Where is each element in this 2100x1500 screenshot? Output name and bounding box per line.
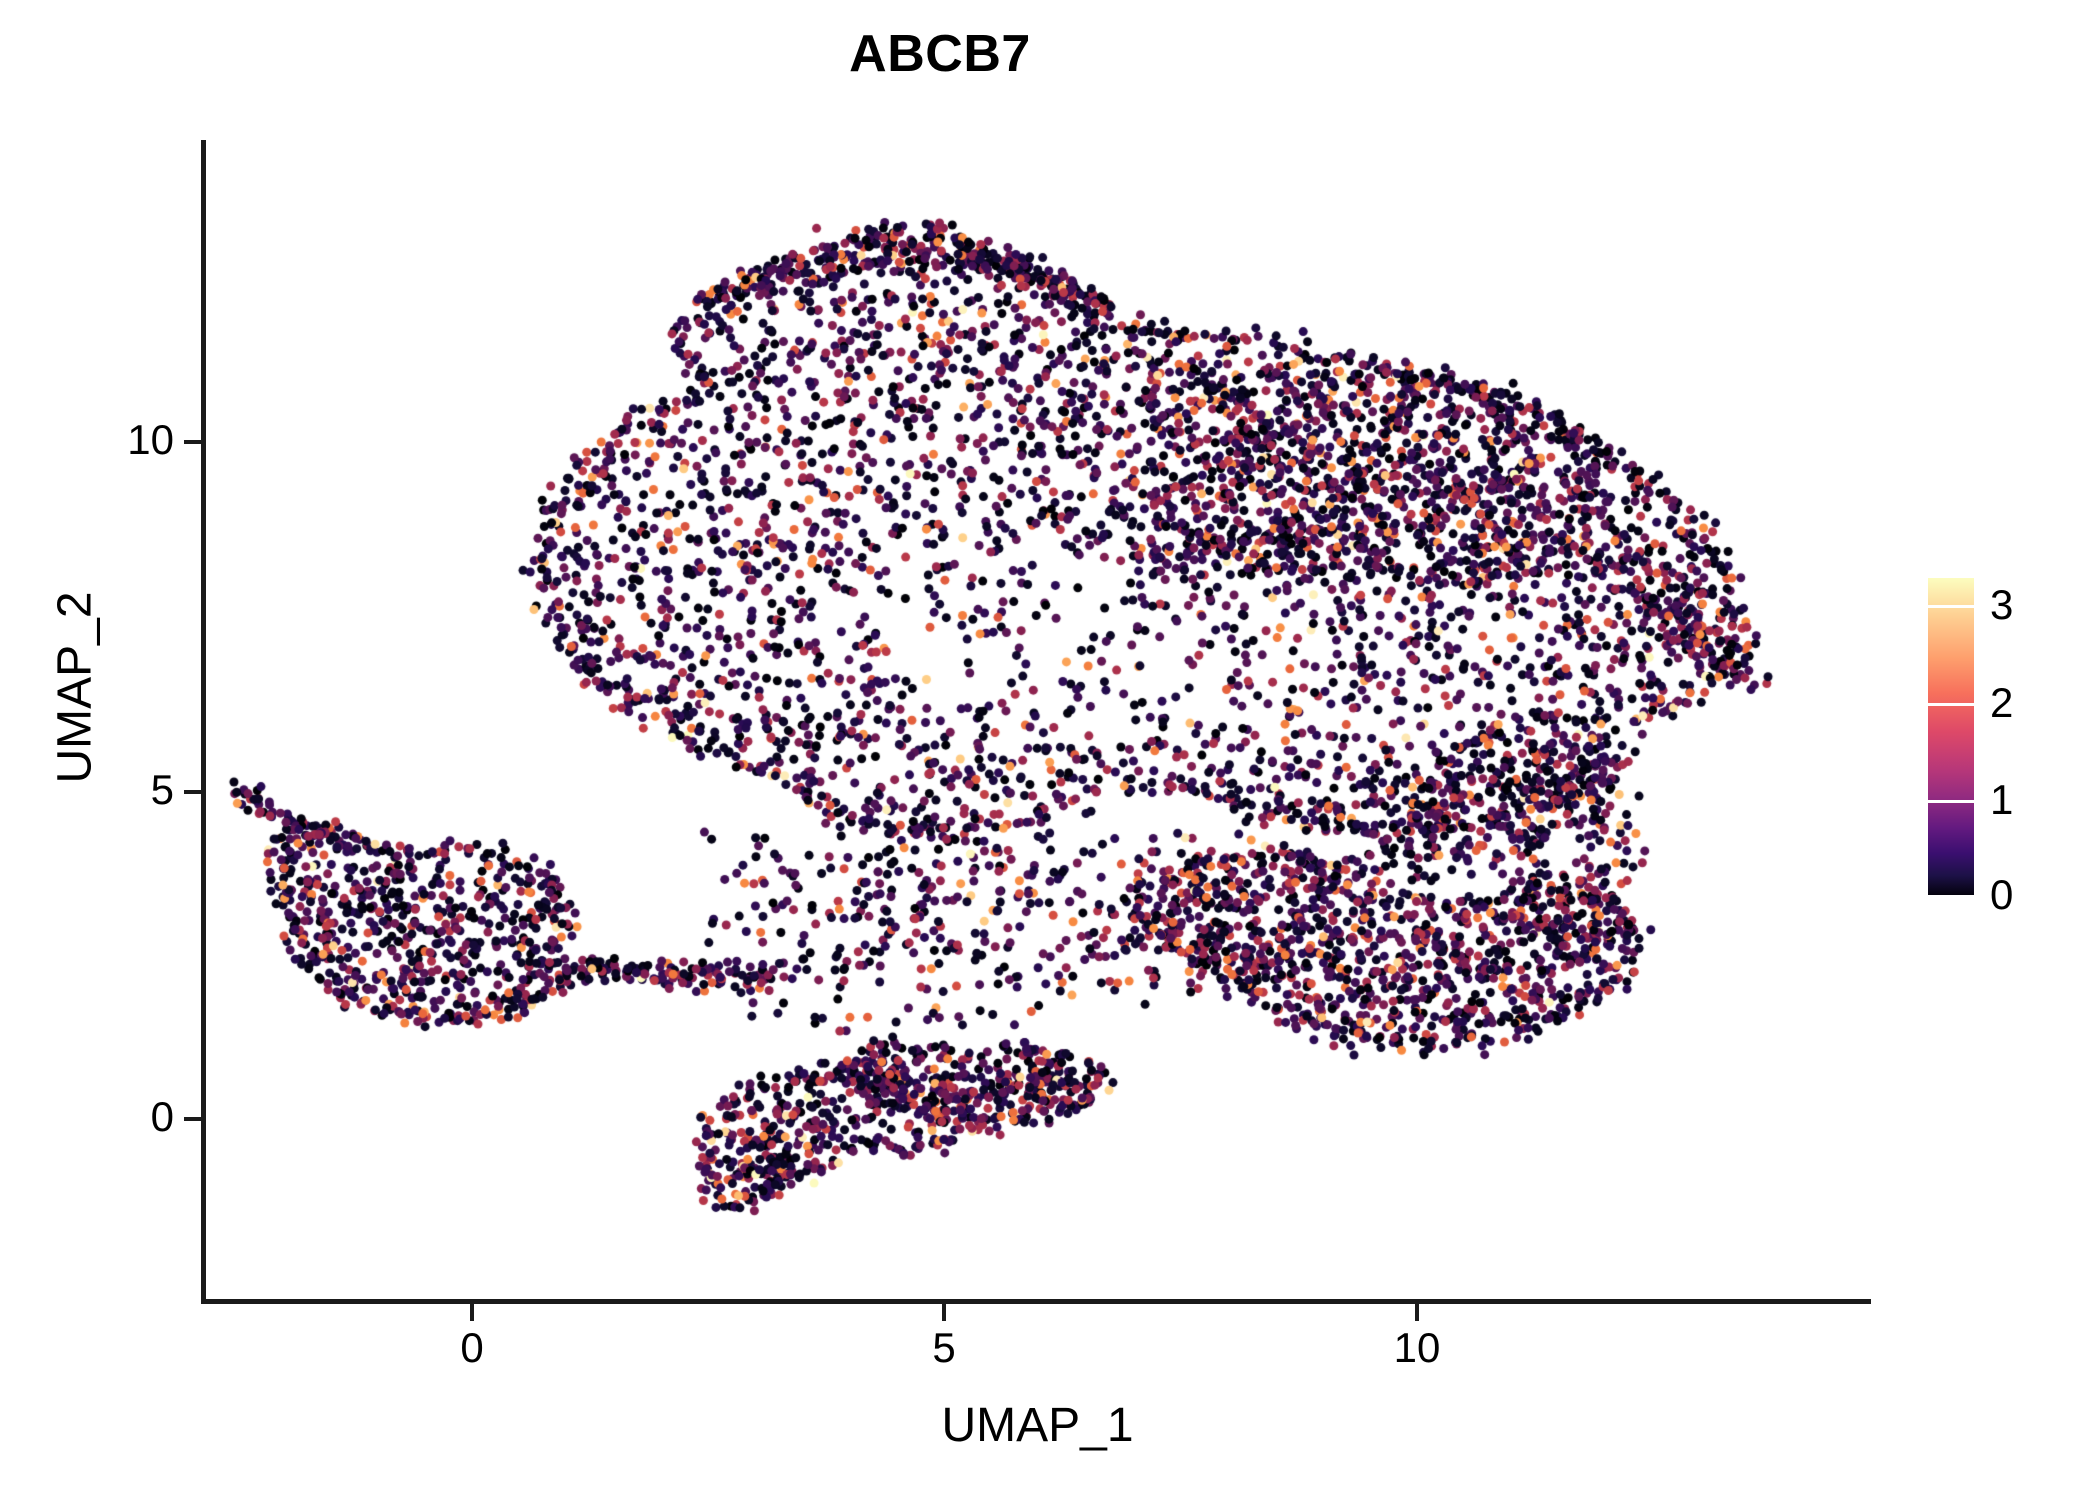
- plot-panel: [204, 140, 1871, 1301]
- y-axis-line: [201, 140, 206, 1304]
- x-axis-title: UMAP_1: [204, 1398, 1871, 1453]
- colorbar-gradient: [1928, 578, 1974, 898]
- scatter-canvas: [204, 140, 1871, 1301]
- x-tick-mark-0: [470, 1304, 474, 1321]
- colorbar-label-3: 3: [1990, 584, 2013, 626]
- colorbar-tick-0: [1928, 895, 1974, 898]
- y-axis-title: UMAP_2: [48, 358, 103, 1018]
- x-tick-mark-10: [1415, 1304, 1419, 1321]
- colorbar-tick-1: [1928, 800, 1974, 803]
- x-tick-mark-5: [942, 1304, 946, 1321]
- y-tick-mark-0: [184, 1117, 201, 1121]
- x-axis-line: [201, 1299, 1871, 1304]
- colorbar-label-0: 0: [1990, 874, 2013, 916]
- x-tick-label-10: 10: [1347, 1324, 1487, 1372]
- umap-feature-plot: ABCB7 0 5 10 10 5 0 UMAP_1 UMAP_2 3 2 1 …: [0, 0, 2100, 1500]
- colorbar-label-2: 2: [1990, 682, 2013, 724]
- colorbar-tick-3: [1928, 605, 1974, 608]
- scatter-points-layer: [204, 140, 1871, 1301]
- colorbar-label-1: 1: [1990, 779, 2013, 821]
- page-title: ABCB7: [0, 26, 1880, 83]
- y-tick-mark-5: [184, 790, 201, 794]
- x-tick-label-5: 5: [874, 1324, 1014, 1372]
- colorbar-tick-2: [1928, 703, 1974, 706]
- y-tick-label-0: 0: [24, 1093, 174, 1141]
- x-tick-label-0: 0: [402, 1324, 542, 1372]
- y-tick-mark-10: [184, 440, 201, 444]
